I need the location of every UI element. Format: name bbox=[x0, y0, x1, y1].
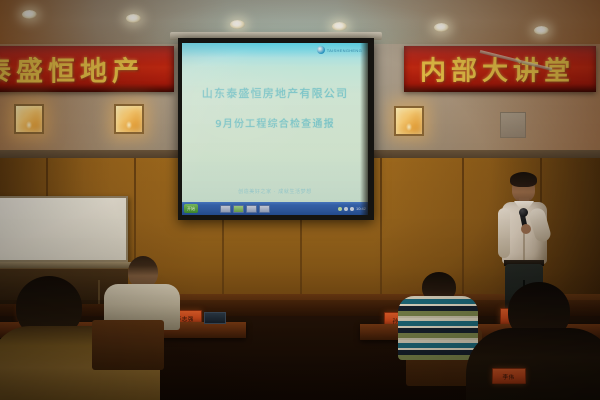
taskbar-window-1[interactable] bbox=[220, 205, 231, 213]
banner-left: 泰盛恒地产 bbox=[0, 46, 174, 92]
company-logo: TAISHENGHENG bbox=[317, 46, 362, 54]
attendee-front-right-torso bbox=[466, 328, 600, 400]
slide-footer-text: 创造美好之家 · 成就生活梦想 bbox=[182, 188, 368, 195]
taskbar-window-2[interactable] bbox=[233, 205, 244, 213]
presentation-slide: TAISHENGHENG 山东泰盛恒房地产有限公司 9月份工程综合检查通报 创造… bbox=[182, 43, 368, 215]
slide-title-line-2: 9月份工程综合检查通报 bbox=[182, 115, 368, 130]
presenter-hand bbox=[521, 224, 531, 234]
wall-sconce-3 bbox=[394, 106, 424, 136]
chair-back-1 bbox=[92, 320, 164, 370]
placard-front-name: 李伟 bbox=[503, 372, 515, 380]
microphone-head-icon bbox=[519, 208, 528, 217]
ceiling-spotlight-5 bbox=[434, 23, 449, 32]
logo-mark-icon bbox=[317, 46, 325, 54]
wall-recess-panel bbox=[500, 112, 526, 138]
wall-sconce-1 bbox=[14, 104, 44, 134]
presenter-left-arm bbox=[498, 208, 510, 258]
slide-body: 山东泰盛恒房地产有限公司 9月份工程综合检查通报 bbox=[182, 85, 368, 130]
whiteboard bbox=[0, 196, 128, 262]
taskbar-window-buttons[interactable] bbox=[220, 205, 270, 213]
slide-title-line-1: 山东泰盛恒房地产有限公司 bbox=[182, 85, 368, 101]
ceiling-spotlight-3 bbox=[230, 20, 245, 29]
system-tray[interactable]: 10:42 bbox=[338, 206, 366, 211]
ceiling-spotlight-6 bbox=[534, 26, 549, 35]
taskbar-window-4[interactable] bbox=[259, 205, 270, 213]
wall-sconce-2 bbox=[114, 104, 144, 134]
wood-seam-5 bbox=[380, 158, 382, 308]
tray-icon-1[interactable] bbox=[338, 207, 342, 211]
conference-room-photo: 泰盛恒地产 内部大讲堂 TAISHENGHENG 山东泰盛恒房地产有限公司 bbox=[0, 0, 600, 400]
attendee-front-right bbox=[466, 282, 600, 400]
ceiling-spotlight-1 bbox=[22, 10, 37, 19]
tray-icon-3[interactable] bbox=[350, 207, 354, 211]
windows-taskbar[interactable]: 开始 10:42 bbox=[182, 202, 368, 215]
banner-right: 内部大讲堂 bbox=[404, 46, 596, 92]
ceiling-spotlight-2 bbox=[126, 14, 141, 23]
presenter-hair bbox=[510, 172, 537, 187]
logo-wordmark: TAISHENGHENG bbox=[327, 48, 362, 53]
ceiling-spotlight-4 bbox=[332, 22, 347, 31]
tray-icon-2[interactable] bbox=[344, 207, 348, 211]
laptop-screen bbox=[204, 312, 226, 324]
start-button[interactable]: 开始 bbox=[184, 204, 198, 213]
banner-left-text: 泰盛恒地产 bbox=[0, 50, 144, 89]
taskbar-clock: 10:42 bbox=[356, 206, 366, 211]
placard-front: 李伟 bbox=[492, 368, 526, 384]
projector-screen: TAISHENGHENG 山东泰盛恒房地产有限公司 9月份工程综合检查通报 创造… bbox=[182, 43, 368, 215]
taskbar-window-3[interactable] bbox=[246, 205, 257, 213]
